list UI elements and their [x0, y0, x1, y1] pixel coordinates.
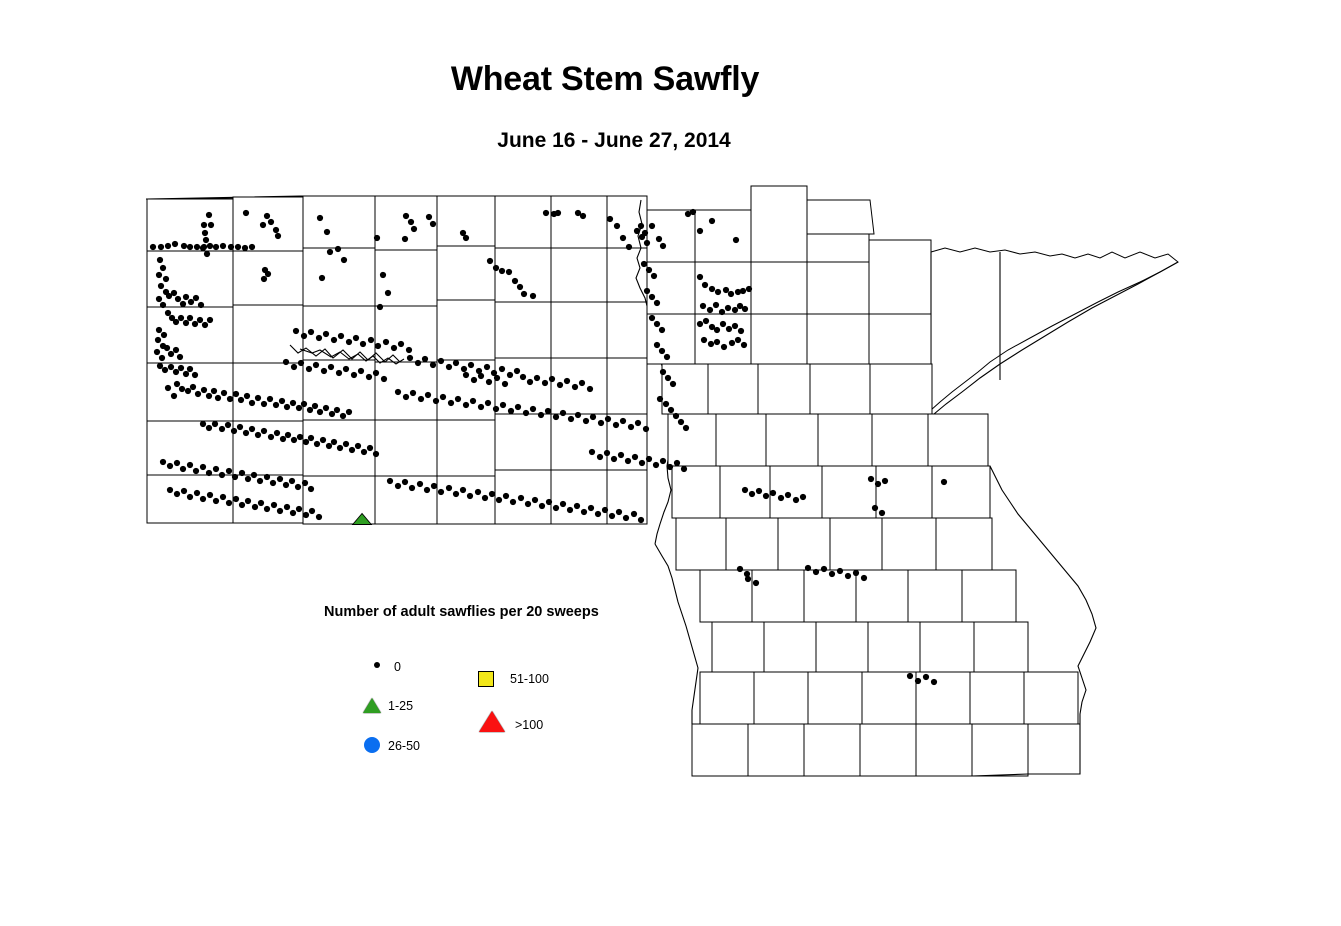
- map-data-point: [915, 678, 921, 684]
- map-data-point: [173, 369, 179, 375]
- map-data-point: [211, 388, 217, 394]
- map-data-point: [879, 510, 885, 516]
- map-data-point: [861, 575, 867, 581]
- map-data-point: [515, 404, 521, 410]
- map-data-point: [512, 278, 518, 284]
- map-data-point: [193, 295, 199, 301]
- legend-label-51-100: 51-100: [510, 673, 549, 686]
- map-data-point: [202, 230, 208, 236]
- map-data-point: [923, 674, 929, 680]
- map-data-point: [430, 362, 436, 368]
- map-data-point: [418, 396, 424, 402]
- map-data-point: [411, 226, 417, 232]
- map-data-point: [663, 401, 669, 407]
- map-data-point: [161, 332, 167, 338]
- map-data-point: [328, 364, 334, 370]
- map-data-point: [349, 447, 355, 453]
- map-data-point: [302, 480, 308, 486]
- map-data-point: [493, 406, 499, 412]
- map-data-point: [187, 462, 193, 468]
- map-data-point: [568, 416, 574, 422]
- map-data-point: [255, 395, 261, 401]
- map-data-point: [580, 213, 586, 219]
- map-data-point: [654, 342, 660, 348]
- map-data-point: [171, 290, 177, 296]
- map-data-point: [192, 372, 198, 378]
- map-data-point: [628, 424, 634, 430]
- map-data-point: [221, 390, 227, 396]
- map-data-point: [228, 244, 234, 250]
- map-data-point: [626, 244, 632, 250]
- map-data-point: [670, 381, 676, 387]
- map-data-point: [283, 482, 289, 488]
- map-data-point: [187, 366, 193, 372]
- map-data-point: [341, 257, 347, 263]
- yellow-square-icon: [474, 666, 498, 690]
- map-data-point: [402, 236, 408, 242]
- map-data-point: [609, 513, 615, 519]
- map-data-point: [306, 366, 312, 372]
- map-data-point: [853, 570, 859, 576]
- map-data-point: [532, 497, 538, 503]
- map-data-point: [742, 306, 748, 312]
- minnesota-counties: [647, 186, 1178, 776]
- map-data-point: [264, 213, 270, 219]
- map-data-point: [155, 337, 161, 343]
- map-data-point: [659, 348, 665, 354]
- map-data-point: [503, 493, 509, 499]
- map-data-point: [317, 409, 323, 415]
- map-data-point: [487, 258, 493, 264]
- map-data-point: [732, 307, 738, 313]
- map-data-point: [403, 213, 409, 219]
- map-data-point: [527, 379, 533, 385]
- map-data-point: [620, 235, 626, 241]
- map-data-point: [178, 315, 184, 321]
- map-data-point: [207, 317, 213, 323]
- map-data-point: [179, 386, 185, 392]
- map-data-point: [375, 343, 381, 349]
- map-data-point: [756, 488, 762, 494]
- map-data-point: [383, 339, 389, 345]
- map-data-point: [753, 580, 759, 586]
- map-data-point: [484, 364, 490, 370]
- map-data-point: [387, 478, 393, 484]
- map-data-point: [190, 384, 196, 390]
- map-data-point: [539, 503, 545, 509]
- map-data-point: [555, 210, 561, 216]
- map-data-point: [165, 243, 171, 249]
- map-data-point: [602, 507, 608, 513]
- map-data-point: [402, 479, 408, 485]
- map-data-point: [478, 404, 484, 410]
- map-data-point: [323, 405, 329, 411]
- map-data-point: [201, 387, 207, 393]
- map-data-point: [542, 380, 548, 386]
- map-data-point: [872, 505, 878, 511]
- map-data-point: [346, 409, 352, 415]
- map-data-point: [194, 490, 200, 496]
- map-data-point: [657, 396, 663, 402]
- map-data-point: [572, 384, 578, 390]
- map-data-point: [643, 426, 649, 432]
- map-data-point: [813, 569, 819, 575]
- map-data-point: [732, 323, 738, 329]
- map-data-point: [496, 497, 502, 503]
- map-data-point: [296, 506, 302, 512]
- map-data-point: [433, 398, 439, 404]
- map-data-point: [664, 354, 670, 360]
- map-data-point: [395, 483, 401, 489]
- map-data-point: [301, 333, 307, 339]
- map-data-point: [158, 283, 164, 289]
- map-data-point: [763, 493, 769, 499]
- map-data-point: [329, 411, 335, 417]
- map-data-point: [931, 679, 937, 685]
- map-data-point: [453, 360, 459, 366]
- map-data-point: [631, 511, 637, 517]
- map-data-point: [193, 468, 199, 474]
- map-data-point: [156, 272, 162, 278]
- map-data-point: [440, 394, 446, 400]
- map-data-point: [595, 511, 601, 517]
- map-data-point: [308, 435, 314, 441]
- map-data-point: [409, 485, 415, 491]
- map-data-point: [649, 223, 655, 229]
- map-data-point: [467, 493, 473, 499]
- map-data-point: [175, 296, 181, 302]
- map-data-point: [308, 486, 314, 492]
- map-data-point: [171, 393, 177, 399]
- map-data-point: [368, 337, 374, 343]
- map-data-point: [800, 494, 806, 500]
- map-data-point: [232, 474, 238, 480]
- map-data-point: [283, 359, 289, 365]
- map-data-point: [649, 315, 655, 321]
- map-data-point: [634, 228, 640, 234]
- map-data-point: [168, 364, 174, 370]
- map-data-point: [251, 472, 257, 478]
- map-data-point: [331, 337, 337, 343]
- map-data-point: [197, 317, 203, 323]
- map-data-point: [485, 400, 491, 406]
- map-data-point: [721, 344, 727, 350]
- map-data-point: [273, 227, 279, 233]
- map-data-point: [206, 393, 212, 399]
- map-data-point: [273, 402, 279, 408]
- map-data-point: [316, 514, 322, 520]
- map-data-point: [314, 441, 320, 447]
- map-data-point: [367, 445, 373, 451]
- map-data-point: [213, 498, 219, 504]
- map-data-point: [510, 499, 516, 505]
- map-data-point: [178, 365, 184, 371]
- map-data-point: [613, 422, 619, 428]
- map-data-point: [264, 474, 270, 480]
- map-data-point: [163, 276, 169, 282]
- map-data-point: [518, 495, 524, 501]
- map-data-point: [837, 568, 843, 574]
- map-data-point: [660, 458, 666, 464]
- map-data-point: [417, 481, 423, 487]
- map-data-point: [659, 327, 665, 333]
- map-data-point: [226, 468, 232, 474]
- map-data-point: [907, 673, 913, 679]
- map-data-point: [415, 360, 421, 366]
- map-data-point: [614, 223, 620, 229]
- map-data-point: [805, 565, 811, 571]
- map-data-point: [742, 487, 748, 493]
- map-data-point: [298, 360, 304, 366]
- map-data-point: [673, 413, 679, 419]
- map-data-point: [351, 372, 357, 378]
- map-data-point: [194, 244, 200, 250]
- map-data-point: [589, 449, 595, 455]
- map-data-point: [620, 418, 626, 424]
- map-data-point: [173, 319, 179, 325]
- map-data-point: [157, 363, 163, 369]
- map-data-point: [277, 476, 283, 482]
- map-data-point: [213, 466, 219, 472]
- map-data-point: [461, 366, 467, 372]
- map-data-point: [654, 321, 660, 327]
- map-data-point: [343, 441, 349, 447]
- map-data-point: [391, 345, 397, 351]
- map-data-point: [207, 492, 213, 498]
- map-data-point: [235, 244, 241, 250]
- map-data-point: [243, 210, 249, 216]
- map-data-point: [560, 501, 566, 507]
- map-data-point: [290, 510, 296, 516]
- map-data-point: [470, 398, 476, 404]
- map-data-point: [206, 212, 212, 218]
- map-data-point: [424, 487, 430, 493]
- map-data-point: [749, 491, 755, 497]
- map-data-point: [514, 368, 520, 374]
- map-data-point: [453, 491, 459, 497]
- map-data-point: [261, 401, 267, 407]
- legend-label-over-100: >100: [515, 719, 543, 732]
- map-data-point: [355, 443, 361, 449]
- map-data-point: [319, 275, 325, 281]
- map-data-point: [334, 407, 340, 413]
- map-data-point: [690, 209, 696, 215]
- map-data-point: [303, 439, 309, 445]
- map-data-point: [165, 310, 171, 316]
- map-data-point: [195, 391, 201, 397]
- map-data-point: [174, 491, 180, 497]
- map-data-point: [215, 395, 221, 401]
- map-data-point: [726, 326, 732, 332]
- map-data-point: [291, 437, 297, 443]
- map-data-point: [499, 366, 505, 372]
- map-data-point: [625, 458, 631, 464]
- map-data-point: [285, 432, 291, 438]
- black-dot-icon: [366, 654, 390, 678]
- map-data-point: [668, 407, 674, 413]
- map-data-point: [616, 509, 622, 515]
- map-data-point: [641, 261, 647, 267]
- map-data-point: [201, 222, 207, 228]
- map-data-point: [564, 378, 570, 384]
- map-data-point: [346, 339, 352, 345]
- map-data-point: [249, 400, 255, 406]
- map-data-point: [200, 496, 206, 502]
- map-data-point: [238, 397, 244, 403]
- map-data-point: [778, 495, 784, 501]
- map-data-point: [291, 364, 297, 370]
- map-data-point: [245, 498, 251, 504]
- map-data-point: [667, 464, 673, 470]
- map-data-point: [233, 496, 239, 502]
- map-data-point: [296, 405, 302, 411]
- map-data-point: [231, 428, 237, 434]
- map-data-point: [446, 485, 452, 491]
- map-data-point: [525, 501, 531, 507]
- map-data-point: [499, 268, 505, 274]
- map-data-point: [623, 515, 629, 521]
- legend-label-26-50: 26-50: [388, 740, 420, 753]
- map-data-point: [284, 504, 290, 510]
- map-data-point: [174, 460, 180, 466]
- map-data-point: [268, 219, 274, 225]
- map-data-point: [639, 234, 645, 240]
- map-data-point: [476, 368, 482, 374]
- map-data-point: [567, 507, 573, 513]
- legend-title: Number of adult sawflies per 20 sweeps: [324, 604, 599, 620]
- map-data-point: [307, 407, 313, 413]
- map-data-point: [475, 489, 481, 495]
- map-data-point: [845, 573, 851, 579]
- map-data-point: [697, 228, 703, 234]
- map-data-point: [507, 372, 513, 378]
- map-data-point: [373, 370, 379, 376]
- map-data-point: [882, 478, 888, 484]
- map-data-point: [270, 480, 276, 486]
- map-data-point: [715, 289, 721, 295]
- map-data-point: [656, 236, 662, 242]
- map-data-point: [267, 396, 273, 402]
- map-data-point: [261, 276, 267, 282]
- map-data-point: [660, 243, 666, 249]
- map-data-point: [408, 219, 414, 225]
- map-data-point: [360, 341, 366, 347]
- map-data-point: [181, 243, 187, 249]
- map-data-point: [707, 307, 713, 313]
- map-data-point: [638, 223, 644, 229]
- map-data-point: [703, 318, 709, 324]
- map-data-point: [719, 309, 725, 315]
- map-data-point: [160, 302, 166, 308]
- map-data-point: [644, 240, 650, 246]
- map-data-point: [239, 502, 245, 508]
- map-data-point: [560, 410, 566, 416]
- map-data-point: [735, 337, 741, 343]
- map-data-point: [268, 434, 274, 440]
- map-data-point: [639, 460, 645, 466]
- map-data-point: [233, 391, 239, 397]
- map-data-point: [587, 386, 593, 392]
- map-data-point: [219, 426, 225, 432]
- map-data-point: [708, 341, 714, 347]
- map-data-point: [180, 301, 186, 307]
- map-data-point: [607, 216, 613, 222]
- map-data-point: [702, 282, 708, 288]
- map-data-point: [245, 476, 251, 482]
- map-data-point: [162, 367, 168, 373]
- map-data-point: [290, 400, 296, 406]
- map-data-point: [438, 358, 444, 364]
- map-data-point: [426, 214, 432, 220]
- map-data-point: [227, 396, 233, 402]
- map-data-point: [242, 245, 248, 251]
- map-data-point: [482, 495, 488, 501]
- map-data-point: [158, 244, 164, 250]
- map-data-point: [493, 265, 499, 271]
- map-data-point: [508, 408, 514, 414]
- blue-circle-icon: [360, 733, 384, 757]
- map-data-point: [725, 305, 731, 311]
- map-data-point: [213, 244, 219, 250]
- map-data-point: [407, 355, 413, 361]
- map-data-point: [549, 376, 555, 382]
- map-data-point: [406, 347, 412, 353]
- map-data-point: [172, 241, 178, 247]
- map-data-point: [208, 222, 214, 228]
- map-data-point: [553, 414, 559, 420]
- map-data-point: [605, 416, 611, 422]
- map-data-point: [448, 400, 454, 406]
- map-data-point: [317, 215, 323, 221]
- map-data-point: [160, 459, 166, 465]
- map-data-point: [198, 302, 204, 308]
- map-data-point: [618, 452, 624, 458]
- legend-label-0: 0: [394, 661, 401, 674]
- map-data-point: [150, 244, 156, 250]
- map-data-point: [737, 566, 743, 572]
- map-data-point: [312, 403, 318, 409]
- map-data-point: [785, 492, 791, 498]
- map-data-point: [521, 291, 527, 297]
- map-data-point: [381, 376, 387, 382]
- map-data-point: [207, 243, 213, 249]
- map-data-point: [574, 503, 580, 509]
- map-data-point: [446, 364, 452, 370]
- map-data-point: [678, 419, 684, 425]
- map-data-point: [463, 402, 469, 408]
- map-data-point: [185, 388, 191, 394]
- map-data-point: [275, 233, 281, 239]
- map-data-point: [226, 500, 232, 506]
- map-data-point: [530, 406, 536, 412]
- map-data-point: [187, 244, 193, 250]
- map-data-point: [303, 512, 309, 518]
- map-data-point: [740, 288, 746, 294]
- map-data-point: [611, 456, 617, 462]
- map-data-point: [183, 320, 189, 326]
- map-data-point: [486, 379, 492, 385]
- map-data-point: [644, 288, 650, 294]
- map-data-point: [598, 420, 604, 426]
- map-data-point: [380, 272, 386, 278]
- map-data-point: [284, 404, 290, 410]
- map-data-point: [255, 432, 261, 438]
- map-data-point: [697, 321, 703, 327]
- map-data-point: [941, 479, 947, 485]
- map-data-point: [395, 389, 401, 395]
- map-data-point: [239, 470, 245, 476]
- map-data-point: [463, 235, 469, 241]
